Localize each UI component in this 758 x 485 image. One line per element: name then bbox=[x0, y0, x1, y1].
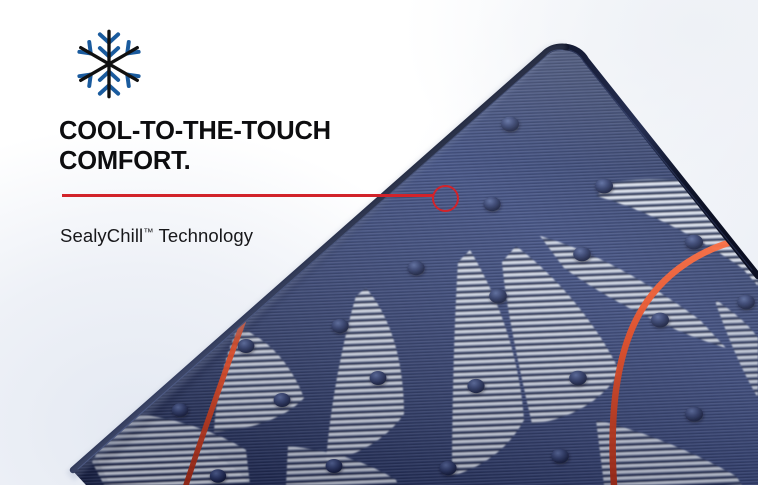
callout-ring bbox=[432, 185, 459, 212]
snowflake-icon bbox=[71, 26, 147, 102]
technology-suffix: Technology bbox=[154, 225, 254, 246]
brand-name: SealyChill bbox=[60, 225, 143, 246]
technology-label: SealyChill™ Technology bbox=[60, 225, 253, 247]
page-title: COOL-TO-THE-TOUCH COMFORT. bbox=[59, 116, 389, 177]
headline-line-2: COMFORT. bbox=[59, 146, 389, 176]
trademark-symbol: ™ bbox=[143, 228, 153, 239]
product-hero-image: COOL-TO-THE-TOUCH COMFORT. SealyChill™ T… bbox=[0, 0, 758, 485]
headline-line-1: COOL-TO-THE-TOUCH bbox=[59, 116, 389, 146]
red-leader-line bbox=[62, 194, 434, 197]
